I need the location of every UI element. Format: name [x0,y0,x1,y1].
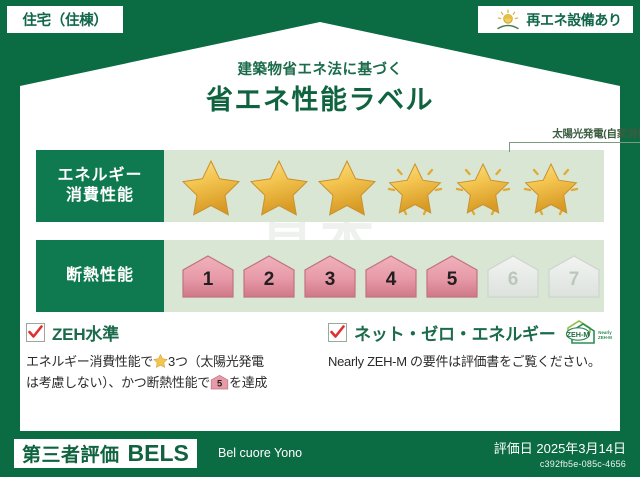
insulation-level-value: 5 [447,269,458,300]
insulation-performance-label-cell: 断熱性能 [36,240,164,312]
svg-text:ZEH-M: ZEH-M [566,330,589,339]
insulation-level-badge-inactive: 6 [485,252,541,300]
insulation-level-badge: 1 [180,252,236,300]
insulation-level-value: 6 [508,269,519,300]
evaluation-id: c392fb5e-085c-4656 [494,459,626,469]
criterion-zeh-desc-part2: 3つ（太陽光発電 [168,354,264,369]
evaluation-date: 評価日 2025年3月14日 [494,438,626,457]
criterion-zeh-title: ZEH水準 [52,320,119,345]
criterion-zeh-header: ZEH水準 [26,320,314,344]
insulation-level-list: 1 2 3 4 [164,252,602,300]
insulation-level-badge-inactive: 7 [546,252,602,300]
criterion-zeh-standard: ZEH水準 エネルギー消費性能で 3つ（太陽光発電 は考慮しない）、かつ断熱性能… [26,320,314,394]
insulation-level-value: 2 [264,269,275,300]
insulation-level-value: 3 [325,269,336,300]
renewable-equipment-tag: 再エネ設備あり [478,6,633,33]
solar-generation-bracket [509,142,640,152]
zeh-m-logo-icon: ZEH-M Nearly ZEH-M [563,319,617,345]
criterion-zeh-description: エネルギー消費性能で 3つ（太陽光発電 は考慮しない）、かつ断熱性能で 5 を達… [26,351,314,394]
footer-bar: 第三者評価 BELS Bel cuore Yono 評価日 2025年3月14日… [0,431,640,477]
sun-icon [495,9,521,31]
insulation-label: 断熱性能 [66,266,134,286]
energy-label-line1: エネルギー [57,166,142,186]
criterion-zeh-desc-part4: を達成 [229,375,267,390]
criterion-net-zero-energy: ネット・ゼロ・エネルギー ZEH-M Nearly ZEH-M Nearly Z… [328,320,616,394]
bels-en-label: BELS [128,440,189,467]
star-rating [164,156,582,216]
insulation-level-value: 4 [386,269,397,300]
criterion-nze-title: ネット・ゼロ・エネルギー [354,320,556,345]
label-title: 省エネ性能ラベル [0,78,640,117]
criterion-zeh-desc-part3: は考慮しない）、かつ断熱性能で [26,375,210,390]
svg-text:5: 5 [217,379,222,389]
criterion-nze-description: Nearly ZEH-M の要件は評価書をご覧ください。 [328,351,616,372]
label-subtitle: 建築物省エネ法に基づく [0,58,640,79]
criteria-section: ZEH水準 エネルギー消費性能で 3つ（太陽光発電 は考慮しない）、かつ断熱性能… [26,320,616,394]
star-icon [316,156,378,216]
energy-performance-label: 住宅（住棟） 再エネ設備あり 建築物省エネ法に基づく 省エネ性能ラベル 見本 [0,0,640,477]
star-icon-solar [384,156,446,216]
energy-performance-stars-area: 太陽光発電(自家消費)分 [164,150,604,222]
star-icon-solar [452,156,514,216]
star-icon-solar [520,156,582,216]
insulation-level-value: 7 [569,269,580,300]
solar-generation-annotation: 太陽光発電(自家消費)分 [509,126,640,152]
inline-house-badge-icon: 5 [210,374,229,390]
house-type-tag: 住宅（住棟） [7,6,123,33]
insulation-level-value: 1 [203,269,214,300]
insulation-level-badge: 3 [302,252,358,300]
insulation-level-badge: 5 [424,252,480,300]
renewable-equipment-label: 再エネ設備あり [526,10,621,30]
evaluation-info: 評価日 2025年3月14日 c392fb5e-085c-4656 [494,438,626,469]
energy-performance-row: エネルギー 消費性能 太陽光発電(自家消費)分 [36,150,604,222]
insulation-level-badge: 4 [363,252,419,300]
energy-label-line2: 消費性能 [66,186,134,206]
insulation-performance-row: 断熱性能 1 [36,240,604,312]
insulation-levels-area: 1 2 3 4 [164,240,604,312]
criterion-nze-header: ネット・ゼロ・エネルギー ZEH-M Nearly ZEH-M [328,320,616,344]
bels-jp-label: 第三者評価 [22,440,120,467]
checkbox-checked-icon [328,323,347,342]
inline-star-icon [153,353,168,368]
criterion-zeh-desc-part1: エネルギー消費性能で [26,354,153,369]
building-name: Bel cuore Yono [218,446,302,460]
star-icon [180,156,242,216]
svg-text:ZEH-M: ZEH-M [598,335,612,340]
house-type-tag-label: 住宅（住棟） [22,9,107,30]
energy-performance-label-cell: エネルギー 消費性能 [36,150,164,222]
bels-badge: 第三者評価 BELS [14,439,197,468]
solar-generation-note: 太陽光発電(自家消費)分 [509,126,640,141]
star-icon [248,156,310,216]
checkbox-checked-icon [26,323,45,342]
insulation-level-badge: 2 [241,252,297,300]
